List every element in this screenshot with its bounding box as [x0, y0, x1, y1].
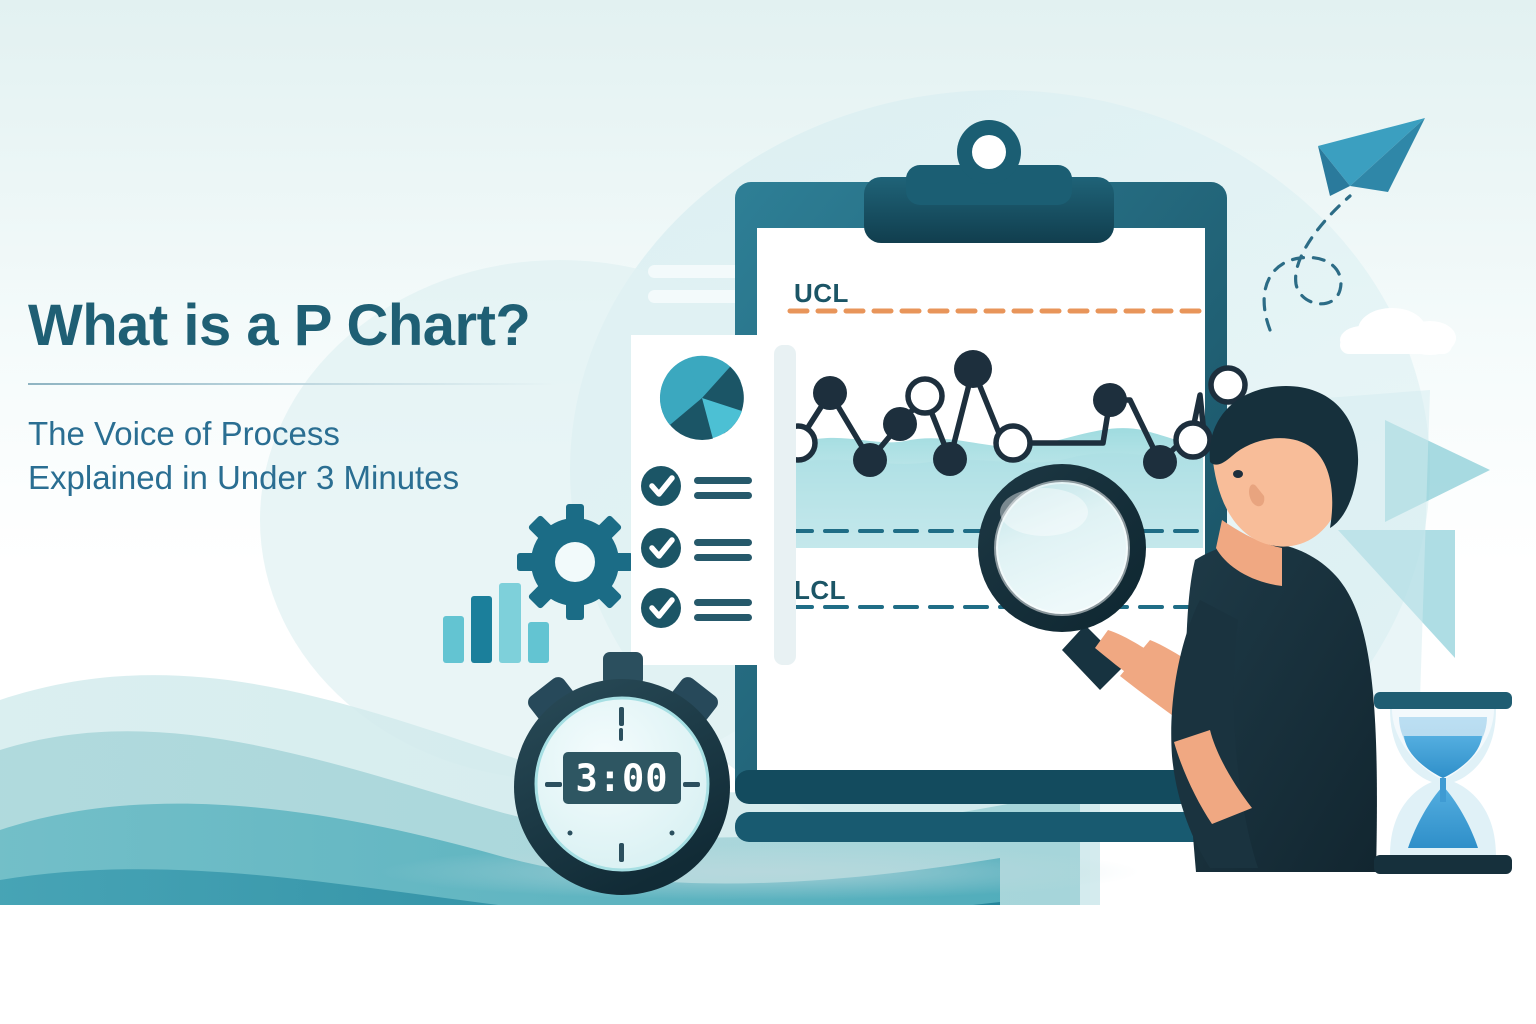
poster-canvas: What is a P Chart? The Voice of Process … — [0, 0, 1536, 1024]
stopwatch-layer — [0, 0, 1536, 1024]
stopwatch-display: 3:00 — [563, 752, 681, 804]
